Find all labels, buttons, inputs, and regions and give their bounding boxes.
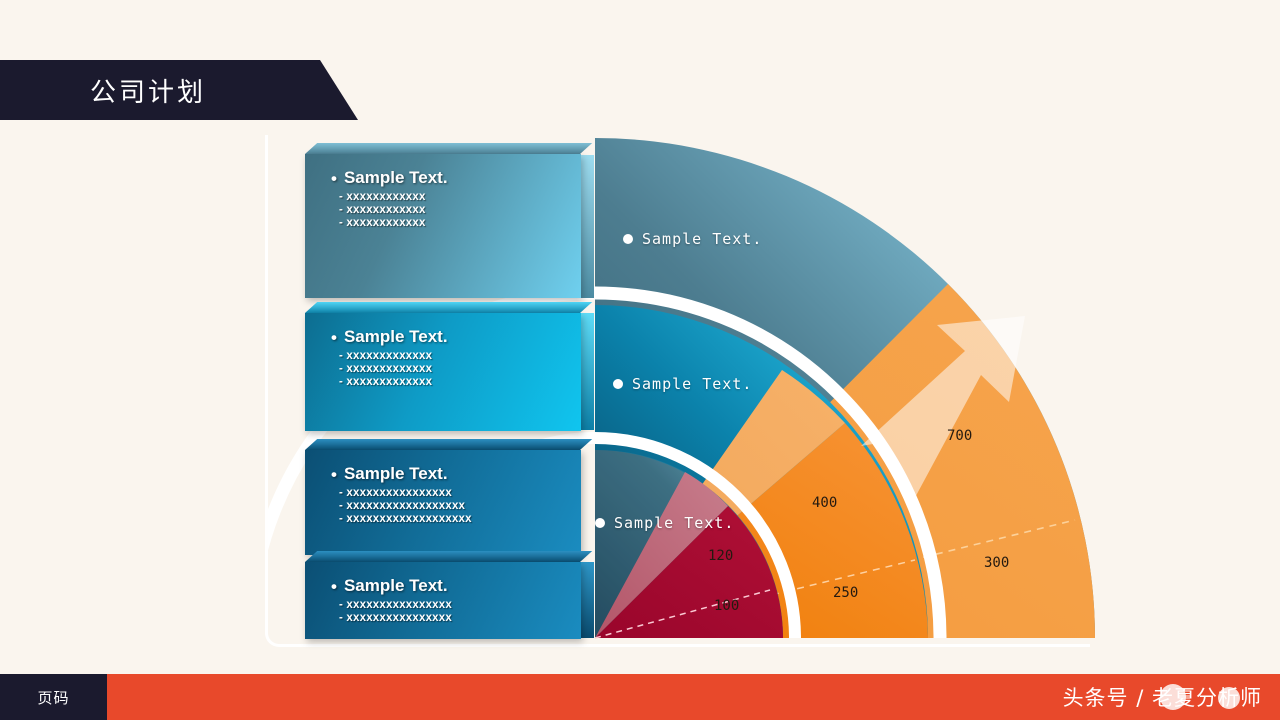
watermark-circle-icon-2 [1218, 687, 1240, 709]
chart-value-400: 400 [812, 495, 837, 511]
chart-band-label-outer: Sample Text. [623, 230, 762, 248]
box-3-side-face [580, 450, 594, 554]
bullet-dot-icon [623, 234, 633, 244]
box-3-title: • Sample Text. [331, 464, 563, 484]
box-2-sub-1: - xxxxxxxxxxxxx [339, 363, 563, 375]
box-4-top-face [305, 551, 592, 562]
page-number-block[interactable]: 页码 [0, 674, 107, 720]
box-2-sub-0: - xxxxxxxxxxxxx [339, 350, 563, 362]
box-2-sub-2: - xxxxxxxxxxxxx [339, 376, 563, 388]
chart-value-250: 250 [833, 585, 858, 601]
box-1-side-face [580, 155, 594, 298]
chart-band-label-inner: Sample Text. [595, 514, 734, 532]
box-2-title: • Sample Text. [331, 327, 563, 347]
chart-band-label-middle: Sample Text. [613, 375, 752, 393]
box-3-sub-1: - xxxxxxxxxxxxxxxxxx [339, 500, 563, 512]
box-4-title: • Sample Text. [331, 576, 563, 596]
box-4-sub-1: - xxxxxxxxxxxxxxxx [339, 612, 563, 624]
box-1-sub-1: - xxxxxxxxxxxx [339, 204, 563, 216]
chart-value-700: 700 [947, 428, 972, 444]
chart-value-100: 100 [714, 598, 739, 614]
box-1-sub-0: - xxxxxxxxxxxx [339, 191, 563, 203]
page-number-label: 页码 [37, 687, 69, 708]
chart-value-120: 120 [708, 548, 733, 564]
text-box-1[interactable]: • Sample Text. - xxxxxxxxxxxx - xxxxxxxx… [305, 154, 581, 298]
bullet-dot-icon [613, 379, 623, 389]
chart-value-300: 300 [984, 555, 1009, 571]
footer-watermark: 头条号 / 老夏分析师 [1063, 674, 1262, 720]
bullet-icon: • [331, 170, 337, 187]
slide-title-banner: 公司计划 [0, 60, 358, 120]
slide-canvas: 公司计划 [0, 0, 1280, 720]
box-3-top-face [305, 439, 592, 450]
box-1-sub-2: - xxxxxxxxxxxx [339, 217, 563, 229]
box-3-sub-0: - xxxxxxxxxxxxxxxx [339, 487, 563, 499]
bullet-icon: • [331, 329, 337, 346]
text-box-3[interactable]: • Sample Text. - xxxxxxxxxxxxxxxx - xxxx… [305, 450, 581, 555]
box-1-title: • Sample Text. [331, 168, 563, 188]
bullet-icon: • [331, 466, 337, 483]
footer-bar: 页码 头条号 / 老夏分析师 [0, 674, 1280, 720]
watermark-circle-icon-1 [1160, 684, 1186, 710]
page-title: 公司计划 [90, 72, 206, 109]
box-2-top-face [305, 302, 592, 313]
box-3-sub-2: - xxxxxxxxxxxxxxxxxxx [339, 513, 563, 525]
text-box-2[interactable]: • Sample Text. - xxxxxxxxxxxxx - xxxxxxx… [305, 313, 581, 431]
box-1-top-face [305, 143, 592, 154]
box-4-side-face [580, 562, 594, 638]
bullet-icon: • [331, 578, 337, 595]
bullet-dot-icon [595, 518, 605, 528]
box-4-sub-0: - xxxxxxxxxxxxxxxx [339, 599, 563, 611]
text-box-4[interactable]: • Sample Text. - xxxxxxxxxxxxxxxx - xxxx… [305, 562, 581, 639]
box-2-side-face [580, 313, 594, 430]
